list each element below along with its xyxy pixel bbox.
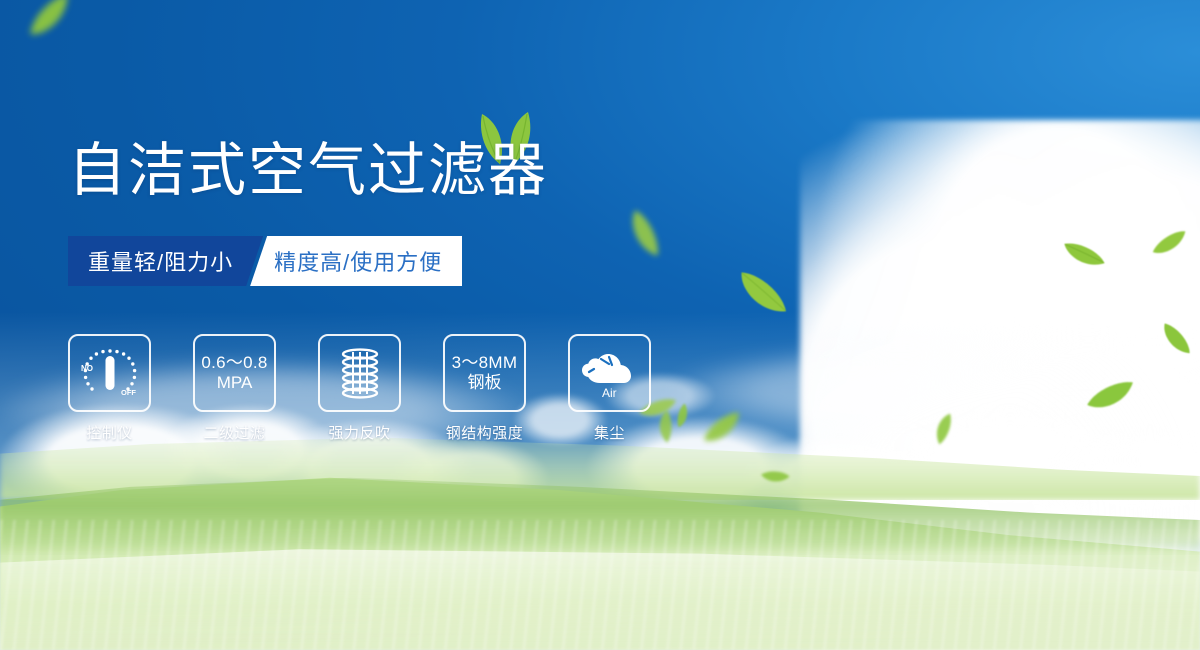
steel-thickness: 3～8MM	[452, 353, 518, 373]
banner-content: 自洁式空气过滤器 重量轻/阻力小 精度高/使用方便	[0, 0, 1200, 650]
tagline-left-segment: 重量轻/阻力小	[68, 236, 263, 286]
pressure-unit: MPA	[217, 373, 253, 393]
feature-label: 二级过滤	[203, 422, 265, 443]
gauge-no-label: NO	[81, 364, 93, 373]
steel-plate-text-icon: 3～8MM 钢板	[443, 334, 526, 412]
feature-label: 集尘	[594, 422, 625, 443]
feature-item-steel[interactable]: 3～8MM 钢板 钢结构强度	[443, 334, 526, 443]
gauge-control-icon: NO OFF	[68, 334, 151, 412]
pressure-value: 0.6～0.8	[201, 353, 267, 373]
feature-list: NO OFF 控制仪 0.6～0.8 MPA 二级过滤	[68, 334, 651, 443]
steel-material: 钢板	[468, 373, 502, 393]
feature-item-dust[interactable]: Air 集尘	[568, 334, 651, 443]
product-hero-banner: 自洁式空气过滤器 重量轻/阻力小 精度高/使用方便	[0, 0, 1200, 650]
page-title: 自洁式空气过滤器	[68, 142, 548, 200]
pressure-text-icon: 0.6～0.8 MPA	[193, 334, 276, 412]
feature-item-pressure[interactable]: 0.6～0.8 MPA 二级过滤	[193, 334, 276, 443]
feature-item-backwash[interactable]: 强力反吹	[318, 334, 401, 443]
feature-label: 控制仪	[86, 422, 133, 443]
gauge-off-label: OFF	[121, 388, 136, 397]
feature-label: 强力反吹	[328, 422, 390, 443]
filter-cartridge-icon	[318, 334, 401, 412]
feature-item-control[interactable]: NO OFF 控制仪	[68, 334, 151, 443]
feature-label: 钢结构强度	[446, 422, 524, 443]
air-label: Air	[602, 386, 617, 400]
air-cloud-icon: Air	[568, 334, 651, 412]
tagline-right-segment: 精度高/使用方便	[250, 236, 462, 286]
tagline-badge: 重量轻/阻力小 精度高/使用方便	[68, 236, 462, 286]
